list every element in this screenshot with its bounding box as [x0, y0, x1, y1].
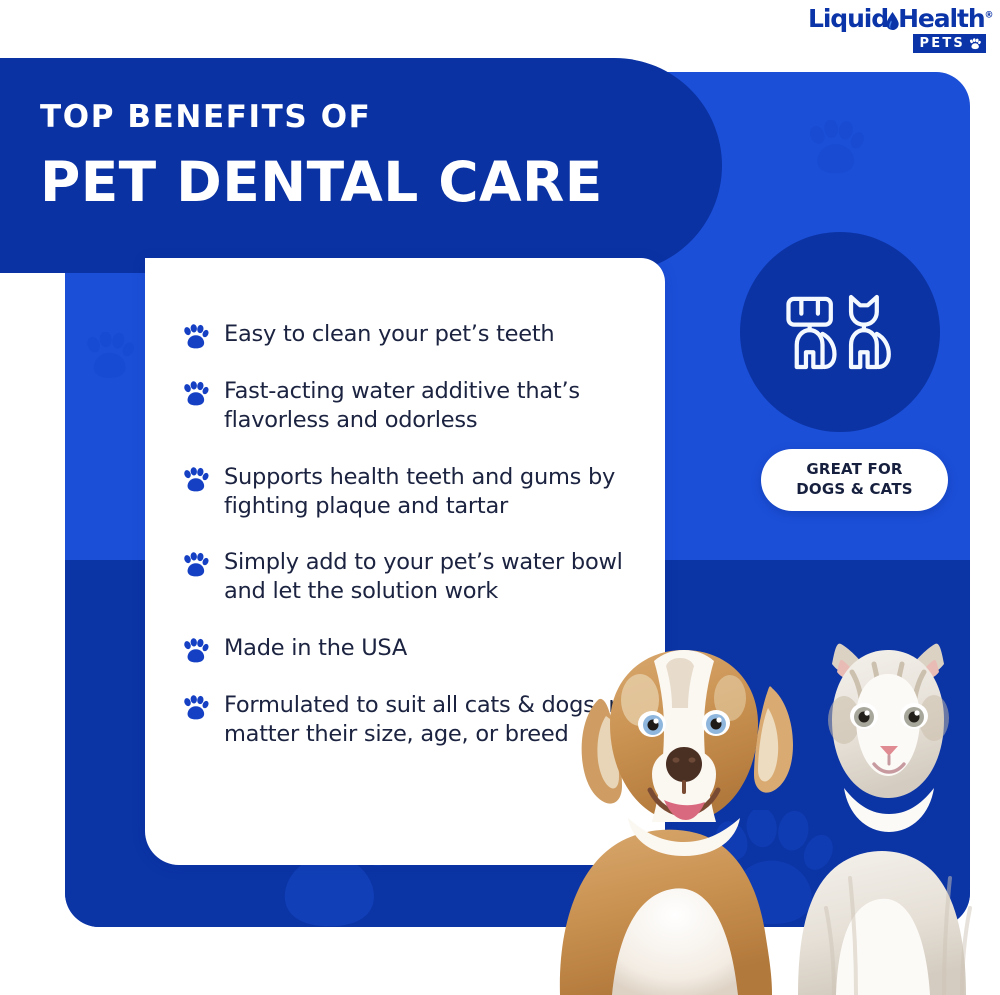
- benefit-text: Easy to clean your pet’s teeth: [224, 320, 554, 349]
- list-item: Fast-acting water additive that’s flavor…: [182, 377, 643, 436]
- kicker-text: TOP BENEFITS OF: [40, 102, 640, 133]
- header-text-block: TOP BENEFITS OF PET DENTAL CARE: [40, 102, 640, 210]
- dog-and-cat-photo: [540, 628, 1000, 995]
- benefit-text: Made in the USA: [224, 634, 407, 663]
- brand-name-part2: Health: [898, 4, 984, 33]
- pets-badge-label: PETS: [920, 37, 965, 50]
- badge-line-1: GREAT FOR: [767, 460, 942, 480]
- brand-logo: LiquidHealth® PETS: [808, 6, 986, 53]
- brand-name-part1: Liquid: [808, 4, 888, 33]
- brand-wordmark: LiquidHealth®: [808, 6, 986, 31]
- paw-print-icon: [969, 38, 981, 50]
- dog-and-cat-icon: [740, 232, 940, 432]
- paw-print-icon: [182, 324, 209, 350]
- paw-watermark-icon: [805, 120, 865, 176]
- list-item: Supports health teeth and gums by fighti…: [182, 463, 643, 522]
- status-badge: GREAT FOR DOGS & CATS: [761, 449, 948, 511]
- paw-print-icon: [182, 552, 209, 578]
- header-banner: TOP BENEFITS OF PET DENTAL CARE: [0, 58, 722, 273]
- list-item: Simply add to your pet’s water bowl and …: [182, 548, 643, 607]
- benefit-text: Fast-acting water additive that’s flavor…: [224, 377, 643, 436]
- paw-print-icon: [182, 695, 209, 721]
- paw-watermark-icon: [83, 332, 135, 380]
- list-item: Easy to clean your pet’s teeth: [182, 320, 643, 350]
- infographic-canvas: TOP BENEFITS OF PET DENTAL CARE Easy to …: [0, 0, 1000, 995]
- page-title: PET DENTAL CARE: [40, 155, 640, 210]
- benefit-text: Simply add to your pet’s water bowl and …: [224, 548, 643, 607]
- benefit-text: Supports health teeth and gums by fighti…: [224, 463, 643, 522]
- paw-print-icon: [182, 638, 209, 664]
- water-drop-icon: [885, 11, 900, 30]
- pets-badge: PETS: [913, 34, 986, 53]
- paw-print-icon: [182, 467, 209, 493]
- registered-mark: ®: [985, 11, 994, 21]
- badge-line-2: DOGS & CATS: [767, 480, 942, 500]
- paw-print-icon: [182, 381, 209, 407]
